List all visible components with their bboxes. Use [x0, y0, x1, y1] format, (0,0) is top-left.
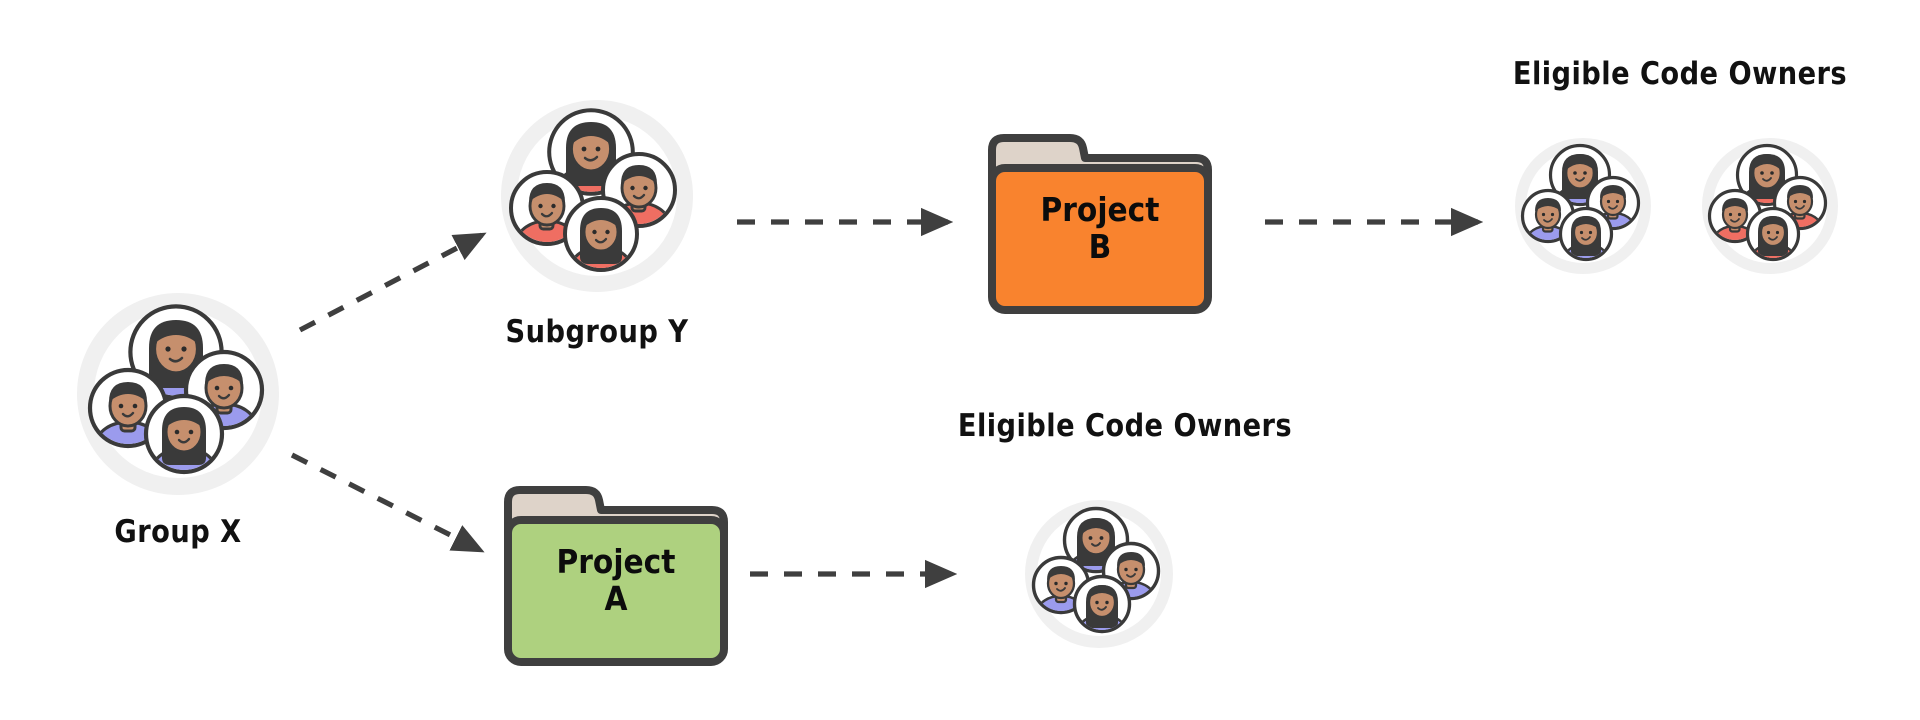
- owners-top-coral-avatars: [1700, 136, 1840, 276]
- diagram-canvas: Group X: [0, 0, 1920, 720]
- project-a-node[interactable]: Project A: [500, 480, 732, 670]
- subgroup-y-node[interactable]: [497, 96, 697, 296]
- group-x-avatars: [72, 288, 284, 500]
- owners-top-purple-avatars: [1513, 136, 1653, 276]
- group-x-label: Group X: [64, 514, 293, 550]
- owners-bottom-avatars: [1023, 498, 1175, 650]
- group-x-node[interactable]: [72, 288, 284, 500]
- edges-layer: [0, 0, 1920, 720]
- project-b-node[interactable]: Project B: [984, 128, 1216, 318]
- project-a-folder-icon: [500, 480, 732, 670]
- owners-bottom-label: Eligible Code Owners: [958, 408, 1292, 444]
- owners-bottom-cluster[interactable]: [1023, 498, 1175, 650]
- owners-top-label: Eligible Code Owners: [1513, 56, 1847, 92]
- edge-group-x-to-subgroup-y: [300, 235, 482, 330]
- owners-top-cluster-coral[interactable]: [1700, 136, 1840, 276]
- subgroup-y-avatars: [497, 96, 697, 296]
- project-b-folder-icon: [984, 128, 1216, 318]
- owners-top-cluster-purple[interactable]: [1513, 136, 1653, 276]
- edge-group-x-to-project-a: [292, 455, 480, 550]
- subgroup-y-label: Subgroup Y: [483, 314, 712, 350]
